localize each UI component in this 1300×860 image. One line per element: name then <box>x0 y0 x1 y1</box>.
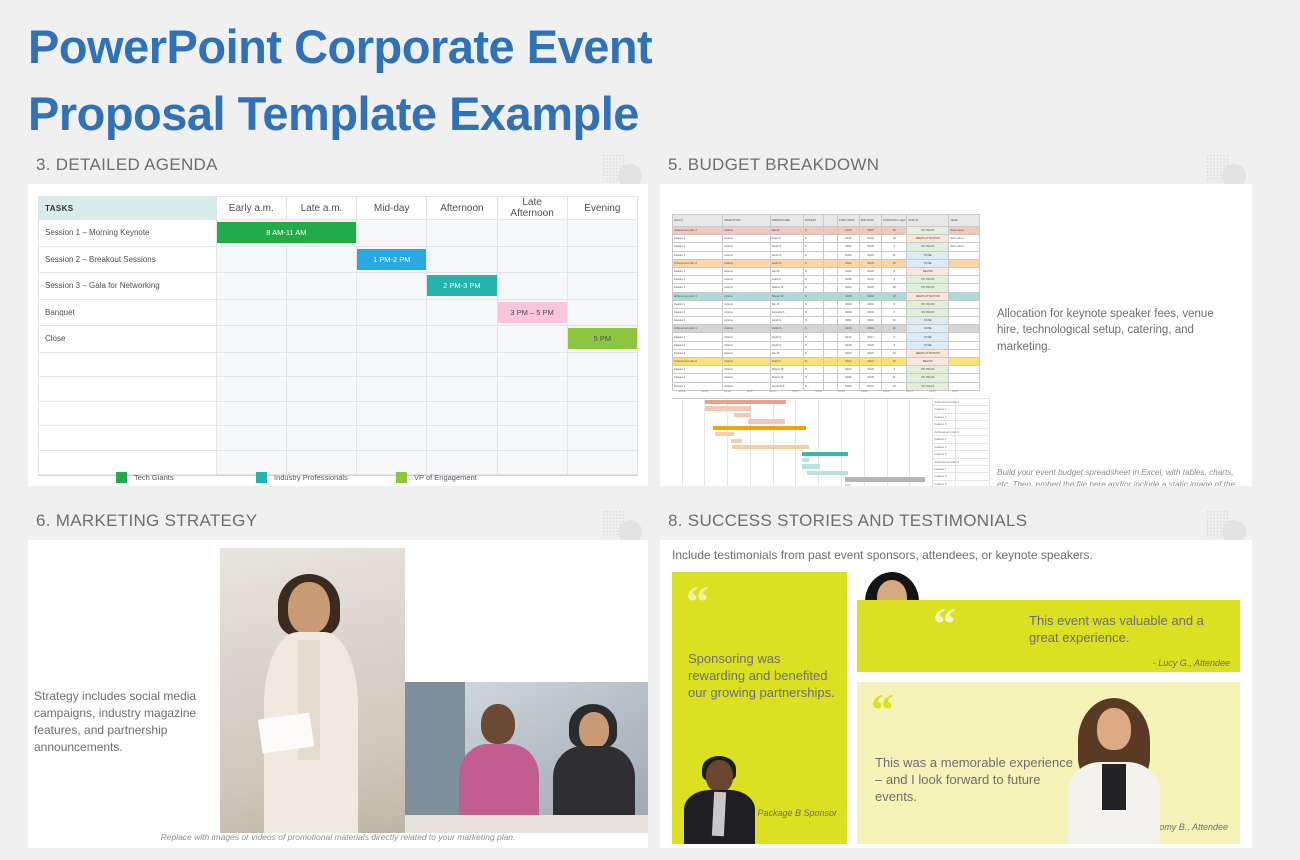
legend-swatch <box>116 472 127 483</box>
testimonials-intro: Include testimonials from past event spo… <box>672 548 1093 562</box>
table-row: Achievement plan 3ActionsSharon W.$-02/2… <box>673 292 980 300</box>
gantt-bar[interactable] <box>705 406 751 410</box>
budget-cell-status: DONE <box>907 251 949 259</box>
agenda-slot[interactable] <box>427 450 497 475</box>
budget-cell-dash: - <box>823 267 837 275</box>
testimonial-card-sponsor: “ Sponsoring was rewarding and benefited… <box>672 572 847 844</box>
gantt-bar[interactable] <box>713 426 805 430</box>
budget-cell-owner: Alex B. <box>770 227 804 235</box>
budget-cell-start: 02/05 <box>837 251 859 259</box>
budget-cell-start: 02/28 <box>837 300 859 308</box>
budget-cell-end: 04/21 <box>859 358 881 366</box>
gantt-tick-label: 04/27 <box>929 389 936 393</box>
agenda-slot[interactable] <box>357 401 427 426</box>
agenda-table-body: Session 1 – Morning Keynote8 AM-11 AMSes… <box>39 220 638 475</box>
budget-cell-status: ON TRACK <box>907 374 949 382</box>
dotted-circle-decoration-icon <box>602 154 642 188</box>
agenda-slot[interactable] <box>567 352 637 377</box>
budget-cell-start: 03/26 <box>837 374 859 382</box>
budget-cell-objective: Actions <box>723 267 770 275</box>
budget-cell-start: 03/01 <box>837 317 859 325</box>
budget-cell-dash: - <box>823 284 837 292</box>
panel-header-budget: 5. BUDGET BREAKDOWN <box>660 152 1252 184</box>
budget-cell-budget: $ <box>804 300 824 308</box>
panel-title-testimonials: 8. SUCCESS STORIES AND TESTIMONIALS <box>668 511 1027 531</box>
gantt-bar[interactable] <box>731 439 742 443</box>
table-row: Feature 3ActionsJacob S.$-02/0502/1511DO… <box>673 251 980 259</box>
budget-cell-dur: 3 <box>882 366 907 374</box>
budget-cell-dash: - <box>823 259 837 267</box>
agenda-bar[interactable]: 2 PM-3 PM <box>427 275 496 296</box>
budget-cell-team <box>949 308 980 316</box>
agenda-slot[interactable] <box>216 401 286 426</box>
panel-title-budget: 5. BUDGET BREAKDOWN <box>668 155 879 175</box>
budget-cell-team <box>949 366 980 374</box>
budget-cell-team <box>949 358 980 366</box>
budget-cell-status: DONE <box>907 325 949 333</box>
budget-cell-team <box>949 292 980 300</box>
panel-header-agenda: 3. DETAILED AGENDA <box>28 152 648 184</box>
budget-cell-goal: Feature 2 <box>673 243 723 251</box>
gantt-bar[interactable] <box>802 452 848 456</box>
agenda-slot[interactable] <box>427 401 497 426</box>
agenda-slot[interactable] <box>286 401 356 426</box>
agenda-slot[interactable] <box>216 352 286 377</box>
agenda-slot[interactable] <box>357 326 427 353</box>
agenda-slot[interactable] <box>567 246 637 273</box>
budget-spreadsheet-image: GOALSOBJECTIVESOWNER NAMEBUDGETSTART DAT… <box>672 214 980 391</box>
budget-cell-dur: 2 <box>882 333 907 341</box>
budget-cell-owner: Sharon W. <box>770 366 804 374</box>
budget-cell-budget: $ <box>804 235 824 243</box>
agenda-slot[interactable] <box>497 246 567 273</box>
agenda-slot[interactable] <box>567 220 637 247</box>
budget-cell-end: 03/17 <box>859 333 881 341</box>
testimonial-card-attendee-lucy: “ This event was valuable and a great ex… <box>857 600 1240 672</box>
table-row: Achievement plan 5ActionsFrank C.$-03/24… <box>673 358 980 366</box>
legend-label: Industry Professionals <box>274 473 348 482</box>
panel-body-budget: GOALSOBJECTIVESOWNER NAMEBUDGETSTART DAT… <box>660 184 1252 486</box>
agenda-slot[interactable] <box>497 352 567 377</box>
agenda-slot[interactable] <box>427 220 497 247</box>
agenda-task-label: Session 2 – Breakout Sessions <box>39 246 217 273</box>
budget-cell-goal: Achievement plan 4 <box>673 325 723 333</box>
budget-cell-owner: Frank C. <box>770 235 804 243</box>
budget-cell-dash: - <box>823 308 837 316</box>
budget-cell-start: 01/16 <box>837 235 859 243</box>
budget-cell-objective: Actions <box>723 341 770 349</box>
gantt-task-label: Achievement plan 3 <box>932 458 990 465</box>
agenda-slot[interactable] <box>497 377 567 402</box>
agenda-slot[interactable] <box>567 273 637 300</box>
agenda-slot[interactable] <box>427 426 497 451</box>
agenda-slot[interactable] <box>567 450 637 475</box>
agenda-slot[interactable] <box>286 352 356 377</box>
agenda-col-1: Early a.m. <box>216 197 286 220</box>
budget-cell-end: 03/16 <box>859 317 881 325</box>
agenda-slot[interactable] <box>567 401 637 426</box>
agenda-slot[interactable]: 1 PM-2 PM <box>357 246 427 273</box>
gantt-tick-label: 01/08 <box>678 389 685 393</box>
agenda-slot[interactable] <box>497 426 567 451</box>
table-row: Feature 3ActionsJacob S.$-03/0103/1616DO… <box>673 317 980 325</box>
budget-cell-owner: Jacob S. <box>770 243 804 251</box>
budget-cell-objective: Actions <box>723 366 770 374</box>
gantt-task-label: Feature 2 <box>932 472 990 479</box>
budget-cell-objective: Actions <box>723 259 770 267</box>
budget-cell-dash: - <box>823 227 837 235</box>
gantt-bar[interactable] <box>715 432 734 436</box>
budget-cell-goal: Feature 3 <box>673 317 723 325</box>
legend-item: Industry Professionals <box>256 472 396 483</box>
agenda-slot[interactable] <box>497 401 567 426</box>
budget-cell-dash: - <box>823 366 837 374</box>
agenda-slot[interactable]: 8 AM-11 AM <box>216 220 356 247</box>
gantt-tick-label: 02/07 <box>747 389 754 393</box>
budget-cell-goal: Feature 2 <box>673 276 723 284</box>
face-shape <box>288 582 330 634</box>
budget-cell-start: 01/29 <box>837 284 859 292</box>
gantt-bar[interactable] <box>802 464 819 468</box>
budget-cell-dur: 29 <box>882 358 907 366</box>
budget-cell-dur: 28 <box>882 284 907 292</box>
gantt-bar[interactable] <box>802 458 808 462</box>
agenda-task-label <box>39 377 217 402</box>
budget-cell-status: NEEDS ATTENTION <box>907 349 949 357</box>
gantt-bar[interactable] <box>732 445 808 449</box>
budget-cell-end: 02/15 <box>859 251 881 259</box>
gantt-bar[interactable] <box>845 477 925 481</box>
budget-cell-objective: Actions <box>723 284 770 292</box>
testimonial-quote: This was a memorable experience – and I … <box>875 754 1075 805</box>
budget-cell-objective: Actions <box>723 292 770 300</box>
budget-cell-budget: $ <box>804 243 824 251</box>
budget-cell-team <box>949 259 980 267</box>
panel-body-marketing: Strategy includes social media campaigns… <box>28 540 648 848</box>
agenda-slot[interactable] <box>357 450 427 475</box>
budget-cell-end: 04/05 <box>859 374 881 382</box>
agenda-slot[interactable] <box>216 426 286 451</box>
face-shape <box>1097 708 1131 750</box>
gantt-task-label: Feature 3 <box>932 420 990 427</box>
budget-cell-goal: Achievement plan 1 <box>673 227 723 235</box>
budget-cell-team <box>949 251 980 259</box>
legend-swatch <box>256 472 267 483</box>
budget-cell-end: 03/26 <box>859 366 881 374</box>
budget-table: GOALSOBJECTIVESOWNER NAMEBUDGETSTART DAT… <box>672 214 980 391</box>
budget-cell-budget: $ <box>804 276 824 284</box>
face-shape <box>481 704 515 744</box>
agenda-slot[interactable] <box>427 377 497 402</box>
marketing-description: Strategy includes social media campaigns… <box>34 688 224 756</box>
agenda-slot[interactable] <box>216 326 286 353</box>
budget-cell-objective: Actions <box>723 317 770 325</box>
agenda-slot[interactable] <box>286 273 356 300</box>
budget-cell-budget: $ <box>804 317 824 325</box>
table-row: Feature 3ActionsAlex B.$-03/2404/1624NEE… <box>673 349 980 357</box>
budget-cell-start: 01/22 <box>837 259 859 267</box>
budget-cell-owner: Sharon W. <box>770 374 804 382</box>
agenda-slot[interactable] <box>567 299 637 326</box>
team-meeting-photo <box>405 682 648 833</box>
budget-cell-objective: Actions <box>723 349 770 357</box>
panel-budget-breakdown: 5. BUDGET BREAKDOWN GOALSOBJECTIVESOWNER… <box>660 152 1252 486</box>
budget-cell-team <box>949 284 980 292</box>
budget-cell-team <box>949 300 980 308</box>
budget-cell-goal: Achievement plan 5 <box>673 358 723 366</box>
budget-cell-end: 02/25 <box>859 259 881 267</box>
gantt-tick-label: 03/28 <box>861 389 868 393</box>
gantt-bar[interactable] <box>748 419 785 423</box>
budget-cell-dash: - <box>823 292 837 300</box>
agenda-slot[interactable] <box>286 450 356 475</box>
budget-cell-status: ON TRACK <box>907 227 949 235</box>
budget-cell-goal: Feature 2 <box>673 308 723 316</box>
table-row: Feature 2ActionsFrank C.$-01/2801/314ON … <box>673 276 980 284</box>
budget-cell-dur: 8 <box>882 267 907 275</box>
budget-cell-end: 03/20 <box>859 341 881 349</box>
gantt-bar[interactable] <box>807 471 848 475</box>
budget-col-2: OWNER NAME <box>770 215 804 227</box>
budget-cell-budget: $ <box>804 227 824 235</box>
table-surface <box>405 815 648 833</box>
quote-mark-icon: “ <box>933 606 956 642</box>
budget-cell-status: ON TRACK <box>907 284 949 292</box>
gantt-bar[interactable] <box>845 484 851 486</box>
budget-cell-end: 02/02 <box>859 235 881 243</box>
gantt-task-label: Feature 1 <box>932 465 990 472</box>
budget-cell-budget: $ <box>804 308 824 316</box>
table-row <box>39 352 638 377</box>
agenda-slot[interactable] <box>216 299 286 326</box>
agenda-table-wrapper: TASKSEarly a.m.Late a.m.Mid-dayAfternoon… <box>38 196 638 475</box>
budget-cell-end: 01/29 <box>859 267 881 275</box>
agenda-slot[interactable] <box>567 377 637 402</box>
gantt-task-label: Feature 2 <box>932 413 990 420</box>
budget-col-4 <box>823 215 837 227</box>
table-row: Banquet3 PM – 5 PM <box>39 299 638 326</box>
agenda-slot[interactable] <box>216 377 286 402</box>
agenda-slot[interactable] <box>286 377 356 402</box>
agenda-slot[interactable] <box>427 299 497 326</box>
panel-body-agenda: TASKSEarly a.m.Late a.m.Mid-dayAfternoon… <box>28 184 648 486</box>
agenda-slot[interactable] <box>427 246 497 273</box>
panel-title-marketing: 6. MARKETING STRATEGY <box>36 511 257 531</box>
agenda-col-4: Afternoon <box>427 197 497 220</box>
agenda-slot[interactable] <box>357 426 427 451</box>
agenda-slot[interactable]: 2 PM-3 PM <box>427 273 497 300</box>
budget-cell-status: ON TRACK <box>907 308 949 316</box>
gantt-task-label: Feature 3 <box>932 450 990 457</box>
budget-cell-end: 03/04 <box>859 308 881 316</box>
budget-cell-owner: Frank C. <box>770 276 804 284</box>
budget-cell-goal: Feature 1 <box>673 366 723 374</box>
panel-detailed-agenda: 3. DETAILED AGENDA TASKSEarly a.m.Late a… <box>28 152 648 486</box>
agenda-table: TASKSEarly a.m.Late a.m.Mid-dayAfternoon… <box>38 196 638 475</box>
agenda-slot[interactable] <box>497 326 567 353</box>
dotted-circle-decoration-icon <box>1206 510 1246 544</box>
gantt-bar[interactable] <box>705 400 786 404</box>
gantt-task-label: Achievement plan 1 <box>932 398 990 405</box>
budget-cell-end: 03/01 <box>859 300 881 308</box>
quote-mark-icon: “ <box>871 692 894 728</box>
budget-cell-dash: - <box>823 235 837 243</box>
budget-cell-dur: 31 <box>882 227 907 235</box>
agenda-slot[interactable] <box>497 450 567 475</box>
budget-cell-team <box>949 333 980 341</box>
budget-cell-status: DONE <box>907 333 949 341</box>
agenda-slot[interactable] <box>497 273 567 300</box>
agenda-task-label <box>39 426 217 451</box>
gantt-tick-label: 04/17 <box>906 389 913 393</box>
agenda-slot[interactable]: 3 PM – 5 PM <box>497 299 567 326</box>
legend-label: VP of Engagement <box>414 473 477 482</box>
gantt-tick-label: 02/27 <box>792 389 799 393</box>
agenda-col-0: TASKS <box>39 197 217 220</box>
agenda-slot[interactable]: 5 PM <box>567 326 637 353</box>
agenda-task-label: Banquet <box>39 299 217 326</box>
agenda-slot[interactable] <box>216 246 286 273</box>
budget-cell-status: ON TRACK <box>907 366 949 374</box>
table-row <box>39 426 638 451</box>
budget-table-header-row: GOALSOBJECTIVESOWNER NAMEBUDGETSTART DAT… <box>673 215 980 227</box>
budget-cell-goal: Feature 3 <box>673 284 723 292</box>
budget-cell-dur: 18 <box>882 235 907 243</box>
gantt-task-label: Feature 2 <box>932 443 990 450</box>
budget-cell-start: 03/16 <box>837 333 859 341</box>
budget-cell-dur: 3 <box>882 300 907 308</box>
budget-cell-owner: Jacob S. <box>770 259 804 267</box>
table-row <box>39 401 638 426</box>
dotted-circle-decoration-icon <box>602 510 642 544</box>
budget-cell-dur: 4 <box>882 276 907 284</box>
gantt-bar[interactable] <box>734 413 750 417</box>
page-title-line2: Proposal Template Example <box>28 81 828 148</box>
budget-cell-dur: 16 <box>882 317 907 325</box>
agenda-slot[interactable] <box>427 352 497 377</box>
agenda-slot[interactable] <box>216 273 286 300</box>
budget-cell-status: ON TRACK <box>907 243 949 251</box>
agenda-task-label: Session 3 – Gala for Networking <box>39 273 217 300</box>
budget-cell-dur: 3 <box>882 341 907 349</box>
table-row: Session 1 – Morning Keynote8 AM-11 AM <box>39 220 638 247</box>
budget-instructions: Build your event budget spreadsheet in E… <box>997 467 1247 486</box>
gantt-tick-label: 04/07 <box>883 389 890 393</box>
table-row: Session 3 – Gala for Networking2 PM-3 PM <box>39 273 638 300</box>
budget-col-5: START DATE <box>837 215 859 227</box>
gantt-task-labels: Achievement plan 1Feature 1Feature 2Feat… <box>932 398 990 486</box>
page-title-line1: PowerPoint Corporate Event <box>28 20 652 73</box>
legend-swatch <box>396 472 407 483</box>
budget-cell-objective: Actions <box>723 300 770 308</box>
agenda-slot[interactable] <box>286 426 356 451</box>
agenda-slot[interactable] <box>497 220 567 247</box>
budget-cell-dash: - <box>823 317 837 325</box>
budget-cell-budget: $ <box>804 349 824 357</box>
window-shape <box>405 682 465 833</box>
agenda-slot[interactable] <box>357 377 427 402</box>
table-row: Feature 1ActionsAlex B.$-01/2201/298BEHI… <box>673 267 980 275</box>
agenda-slot[interactable] <box>286 246 356 273</box>
panel-title-agenda: 3. DETAILED AGENDA <box>36 155 218 175</box>
budget-cell-start: 03/24 <box>837 358 859 366</box>
agenda-slot[interactable] <box>357 352 427 377</box>
agenda-slot[interactable] <box>216 450 286 475</box>
marketing-caption: Replace with images or videos of promoti… <box>28 832 648 842</box>
budget-cell-start: 03/18 <box>837 341 859 349</box>
budget-cell-end: 02/25 <box>859 284 881 292</box>
inner-top-shape <box>1102 764 1126 810</box>
agenda-slot[interactable] <box>567 426 637 451</box>
gantt-tick-label: 05/07 <box>952 389 959 393</box>
budget-cell-objective: Actions <box>723 251 770 259</box>
budget-cell-goal: Feature 2 <box>673 341 723 349</box>
budget-cell-budget: $ <box>804 292 824 300</box>
panel-body-testimonials: Include testimonials from past event spo… <box>660 540 1252 848</box>
budget-cell-owner: Sharon W. <box>770 292 804 300</box>
sponsor-portrait-photo <box>682 754 757 844</box>
agenda-bar[interactable]: 8 AM-11 AM <box>217 222 356 243</box>
agenda-slot[interactable] <box>286 326 356 353</box>
budget-cell-end: 04/16 <box>859 325 881 333</box>
panel-marketing-strategy: 6. MARKETING STRATEGY Strategy includes … <box>28 508 648 848</box>
budget-cell-dash: - <box>823 349 837 357</box>
budget-cell-end: 02/05 <box>859 243 881 251</box>
budget-cell-start: 01/31 <box>837 243 859 251</box>
budget-cell-team <box>949 341 980 349</box>
budget-cell-objective: Actions <box>723 325 770 333</box>
budget-cell-owner: Alex B. <box>770 267 804 275</box>
budget-cell-status: BEHIND <box>907 267 949 275</box>
budget-cell-dur: 11 <box>882 251 907 259</box>
agenda-bar[interactable]: 3 PM – 5 PM <box>498 302 567 323</box>
budget-cell-owner: Jacob S. <box>770 251 804 259</box>
gantt-task-label: Feature 1 <box>932 435 990 442</box>
table-row: Feature 1ActionsSharon W.$-03/2403/263ON… <box>673 366 980 374</box>
attendee-portrait-photo-romy <box>1064 696 1164 844</box>
budget-cell-goal: Feature 1 <box>673 333 723 341</box>
table-row: Feature 1ActionsAlex B.$-02/2803/013ON T… <box>673 300 980 308</box>
agenda-slot[interactable] <box>286 299 356 326</box>
budget-cell-owner: Jacob S. <box>770 325 804 333</box>
testimonial-quote: Sponsoring was rewarding and benefited o… <box>688 650 836 701</box>
agenda-slot[interactable] <box>357 220 427 247</box>
budget-cell-objective: Actions <box>723 276 770 284</box>
agenda-slot[interactable] <box>427 326 497 353</box>
budget-cell-team: Team name <box>949 227 980 235</box>
budget-cell-budget: $ <box>804 284 824 292</box>
agenda-slot[interactable] <box>357 273 427 300</box>
budget-cell-budget: $ <box>804 325 824 333</box>
budget-cell-status: DONE <box>907 341 949 349</box>
budget-cell-owner: Frank C. <box>770 358 804 366</box>
budget-cell-dur: 18 <box>882 292 907 300</box>
table-row: Achievement plan 4ActionsJacob S.$-03/16… <box>673 325 980 333</box>
budget-cell-status: NEEDS ATTENTION <box>907 292 949 300</box>
agenda-bar[interactable]: 1 PM-2 PM <box>357 249 426 270</box>
budget-cell-team <box>949 317 980 325</box>
agenda-slot[interactable] <box>357 299 427 326</box>
budget-cell-start: 03/24 <box>837 349 859 357</box>
panel-success-stories: 8. SUCCESS STORIES AND TESTIMONIALS Incl… <box>660 508 1252 848</box>
budget-cell-goal: Achievement plan 3 <box>673 292 723 300</box>
agenda-bar[interactable]: 5 PM <box>568 328 637 349</box>
agenda-col-3: Mid-day <box>357 197 427 220</box>
budget-cell-status: ON TRACK <box>907 300 949 308</box>
testimonial-card-attendee-romy: “ This was a memorable experience – and … <box>857 682 1240 844</box>
legend-item: VP of Engagement <box>396 472 536 483</box>
agenda-task-label <box>39 450 217 475</box>
